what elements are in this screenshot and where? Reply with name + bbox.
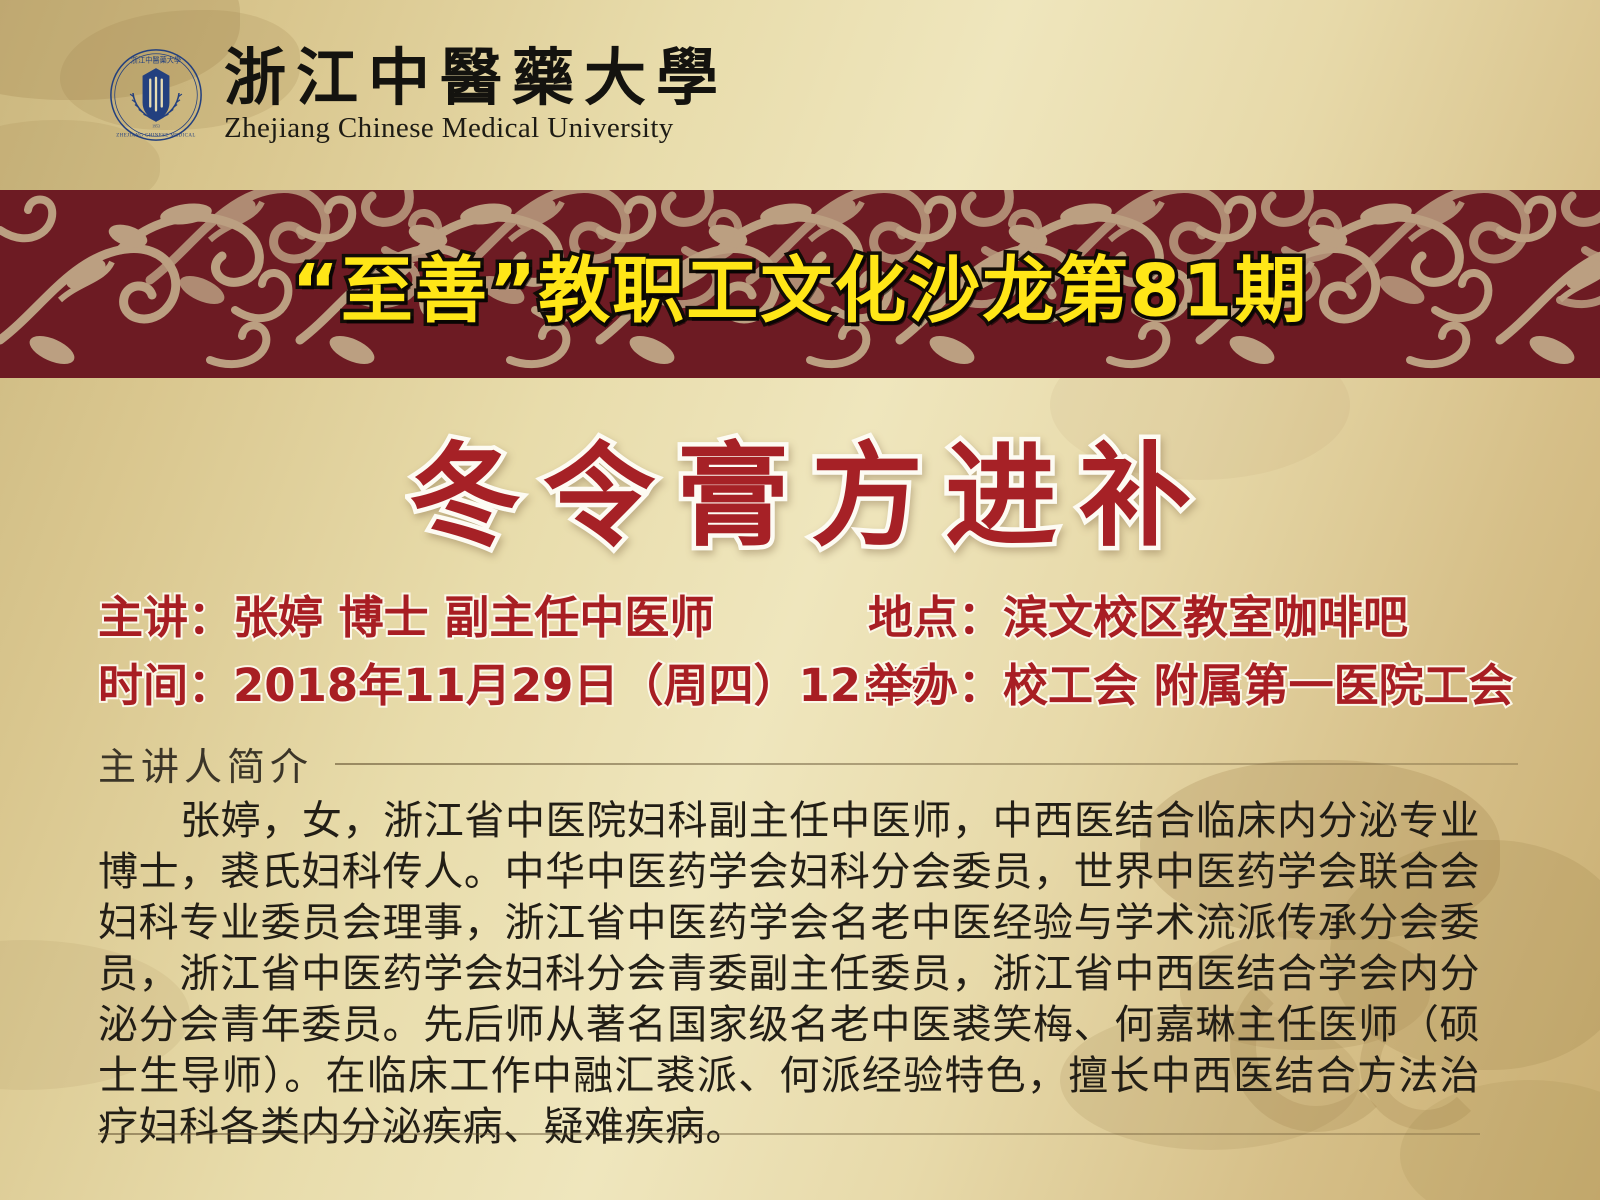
- bio-heading-divider: [335, 763, 1518, 765]
- bio-heading-label: 主讲人简介: [98, 736, 313, 791]
- event-poster: 浙江中醫藥大學 ZHEJIANG CHINESE MEDICAL 1953 浙江…: [0, 0, 1600, 1200]
- footer-divider: [98, 1133, 1480, 1135]
- bio-heading: 主讲人简介: [98, 736, 1518, 791]
- university-name-en: Zhejiang Chinese Medical University: [224, 112, 728, 145]
- info-speaker: 主讲：张婷 博士 副主任中医师: [98, 588, 868, 648]
- info-organizer: 举办：校工会 附属第一医院工会: [868, 656, 1518, 716]
- info-time: 时间：2018年11月29日（周四）12:30: [98, 656, 868, 716]
- banner-title: “至善”教职工文化沙龙第81期: [0, 232, 1600, 337]
- bio-text: 张婷，女，浙江省中医院妇科副主任中医师，中西医结合临床内分泌专业博士，裘氏妇科传…: [98, 796, 1480, 1153]
- university-logo: 浙江中醫藥大學 ZHEJIANG CHINESE MEDICAL 1953 浙江…: [108, 45, 728, 145]
- poster-header: 浙江中醫藥大學 ZHEJIANG CHINESE MEDICAL 1953 浙江…: [0, 0, 1600, 190]
- salon-banner: “至善”教职工文化沙龙第81期: [0, 190, 1600, 378]
- university-name-block: 浙江中醫藥大學 Zhejiang Chinese Medical Univers…: [224, 45, 728, 145]
- svg-text:浙江中醫藥大學: 浙江中醫藥大學: [131, 55, 181, 64]
- svg-text:ZHEJIANG CHINESE MEDICAL: ZHEJIANG CHINESE MEDICAL: [116, 133, 196, 138]
- university-name-cn: 浙江中醫藥大學: [224, 45, 728, 110]
- event-info: 主讲：张婷 博士 副主任中医师 地点：滨文校区教室咖啡吧 时间：2018年11月…: [98, 588, 1518, 716]
- info-location: 地点：滨文校区教室咖啡吧: [868, 588, 1518, 648]
- university-seal-icon: 浙江中醫藥大學 ZHEJIANG CHINESE MEDICAL 1953: [108, 47, 204, 143]
- svg-text:1953: 1953: [152, 125, 160, 129]
- page-title: 冬令膏方进补: [0, 406, 1600, 568]
